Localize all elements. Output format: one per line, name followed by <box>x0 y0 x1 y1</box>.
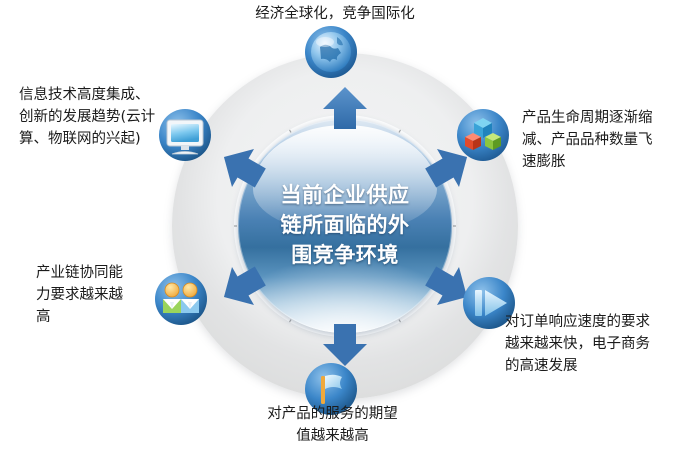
center-label: 当前企业供应 链所面临的外 围竞争环境 <box>238 119 452 333</box>
label-chain-collaboration: 产业链协同能 力要求越来越 高 <box>36 263 156 328</box>
center-sphere: 当前企业供应 链所面临的外 围竞争环境 <box>238 119 452 333</box>
globe-icon <box>304 25 358 79</box>
two-people-icon <box>154 272 208 326</box>
label-product-lifecycle: 产品生命周期逐渐缩 减、产品品种数量飞 速膨胀 <box>522 108 690 173</box>
arrow-up-top <box>319 83 371 135</box>
cubes-icon <box>456 108 510 162</box>
label-globalization: 经济全球化，竞争国际化 <box>205 4 465 26</box>
label-service-expectation: 对产品的服务的期望 值越来越高 <box>230 404 435 448</box>
label-order-response: 对订单响应速度的要求 越来越来快，电子商务 的高速发展 <box>505 312 690 377</box>
supply-chain-competition-diagram: 当前企业供应 链所面临的外 围竞争环境 <box>0 0 690 451</box>
arrow-up-left <box>217 142 269 194</box>
label-information-technology: 信息技术高度集成、 创新的发展趋势(云计 算、物联网的兴起) <box>19 85 194 150</box>
arrow-down-left <box>217 260 269 312</box>
